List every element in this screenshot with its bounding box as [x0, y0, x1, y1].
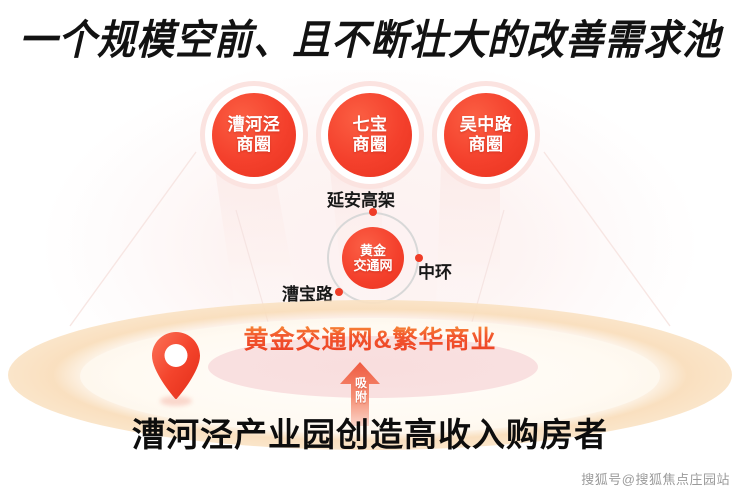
- bottom-headline: 漕河泾产业园创造高收入购房者: [0, 415, 740, 455]
- district-bubble-qibao[interactable]: 七宝 商圈: [328, 93, 412, 177]
- road-label-yananhighway: 延安高架: [327, 186, 395, 211]
- watermark: 搜狐号@搜狐焦点庄园站: [581, 469, 730, 488]
- road-label-zhonghuan: 中环: [418, 258, 452, 283]
- core-bubble-golden-traffic[interactable]: 黄金 交通网: [342, 227, 404, 289]
- district-bubble-wuzhonglu-line2: 商圈: [469, 135, 504, 155]
- district-bubble-qibao-line1: 七宝: [353, 115, 388, 135]
- location-pin-icon: [148, 330, 204, 404]
- district-bubble-caohejing-line2: 商圈: [237, 135, 272, 155]
- core-bubble-line1: 黄金: [360, 243, 386, 258]
- district-bubble-wuzhonglu[interactable]: 吴中路 商圈: [444, 93, 528, 177]
- district-bubble-caohejing-line1: 漕河泾: [228, 115, 281, 135]
- district-bubble-wuzhonglu-line1: 吴中路: [460, 115, 513, 135]
- arrow-label-attraction: 吸附: [352, 376, 370, 404]
- golden-traffic-network-orbit: 黄金 交通网: [327, 212, 423, 308]
- orbit-dot-top: [369, 208, 377, 216]
- orbit-dot-right: [415, 254, 423, 262]
- infographic-canvas: 一个规模空前、且不断壮大的改善需求池 漕河泾 商圈 七宝 商圈 吴中路 商圈 延…: [0, 0, 740, 494]
- orbit-dot-bottom-left: [335, 288, 343, 296]
- banner-headline: 黄金交通网&繁华商业: [0, 320, 740, 356]
- core-bubble-line2: 交通网: [353, 258, 392, 273]
- district-bubble-qibao-line2: 商圈: [353, 135, 388, 155]
- page-title: 一个规模空前、且不断壮大的改善需求池: [0, 16, 740, 64]
- district-bubble-caohejing[interactable]: 漕河泾 商圈: [212, 93, 296, 177]
- location-pin-shadow: [160, 396, 192, 406]
